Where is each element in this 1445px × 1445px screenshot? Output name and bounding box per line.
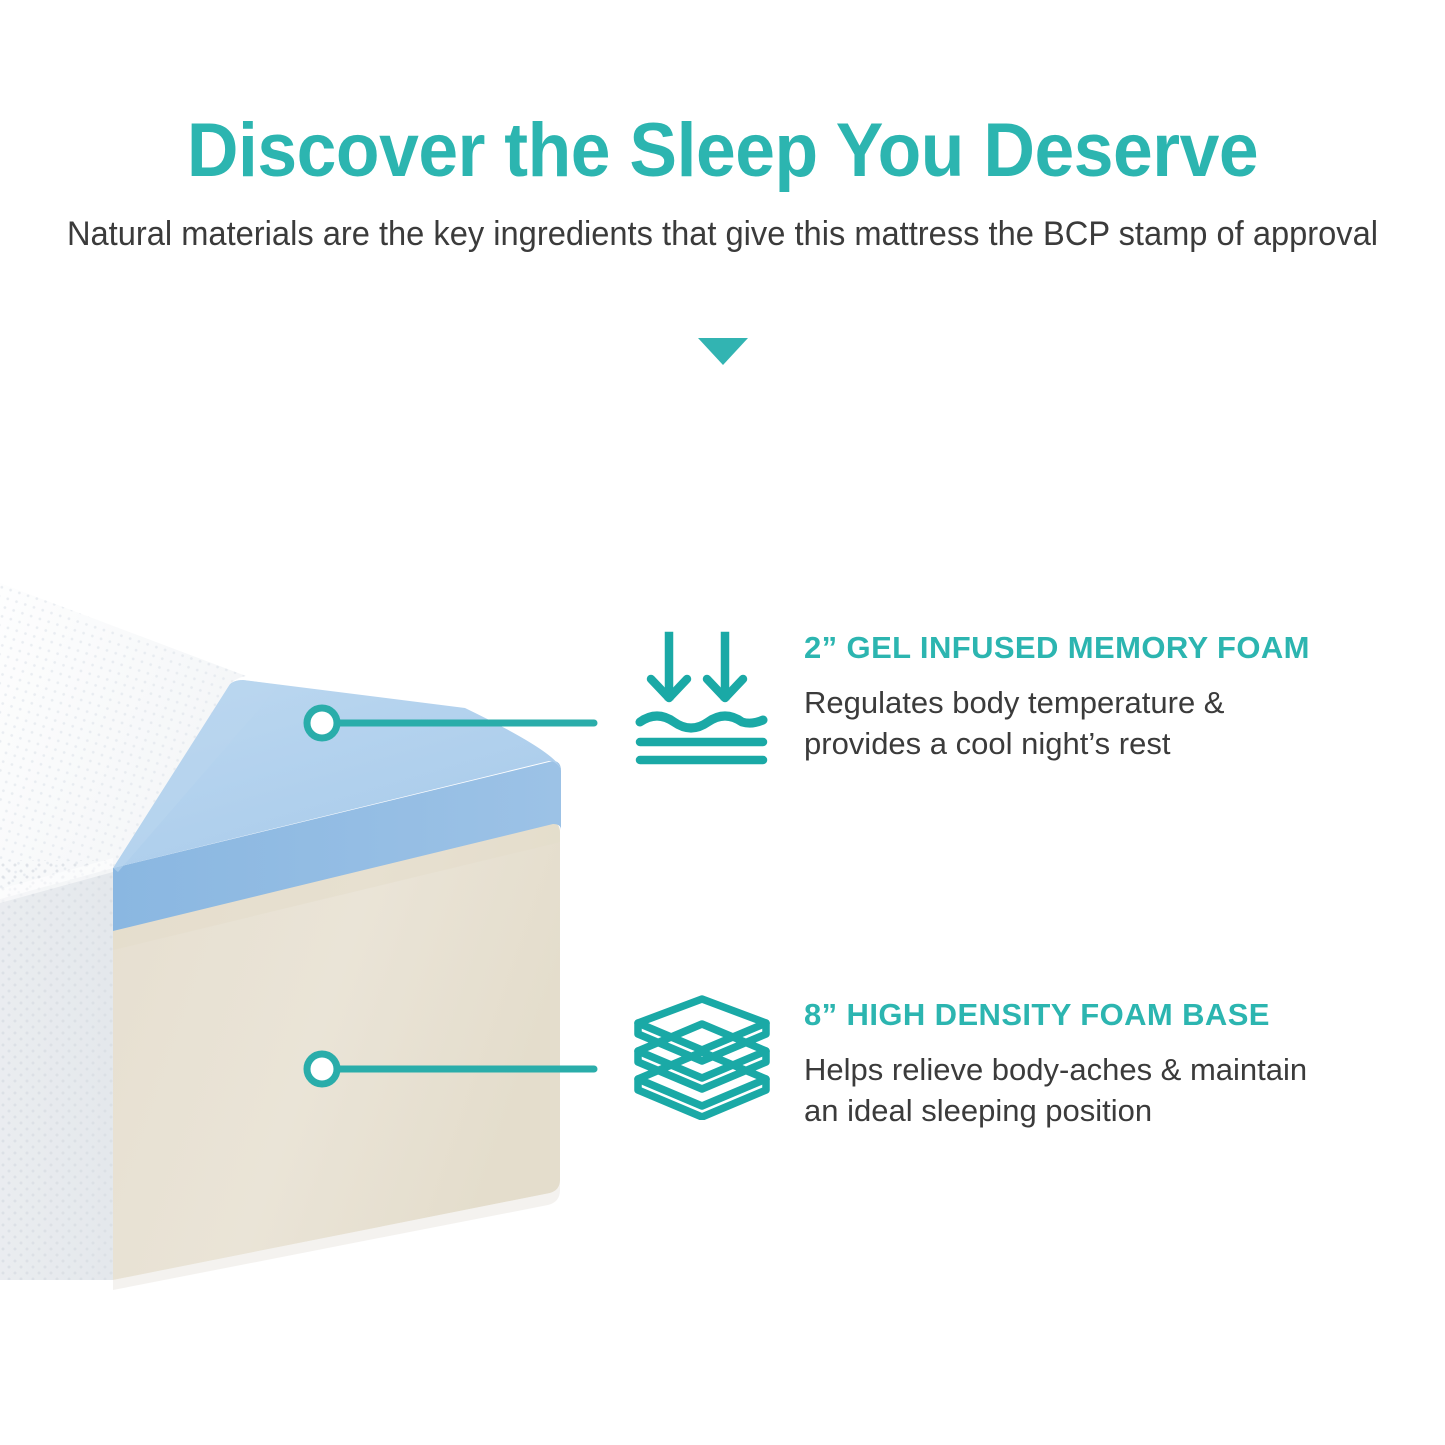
- feature-gel-title: 2” GEL INFUSED MEMORY FOAM: [804, 630, 1310, 666]
- infographic-page: Discover the Sleep You Deserve Natural m…: [0, 0, 1445, 1445]
- feature-base-text: 8” HIGH DENSITY FOAM BASE Helps relieve …: [804, 995, 1307, 1131]
- stacked-layers-icon: [632, 995, 772, 1120]
- feature-gel-text: 2” GEL INFUSED MEMORY FOAM Regulates bod…: [804, 628, 1310, 764]
- page-title: Discover the Sleep You Deserve: [43, 0, 1401, 194]
- feature-high-density-foam-base: 8” HIGH DENSITY FOAM BASE Helps relieve …: [632, 995, 1307, 1131]
- feature-gel-infused-memory-foam: 2” GEL INFUSED MEMORY FOAM Regulates bod…: [632, 628, 1310, 768]
- page-subtitle: Natural materials are the key ingredient…: [29, 194, 1416, 256]
- feature-gel-description: Regulates body temperature & provides a …: [804, 666, 1310, 764]
- feature-base-description: Helps relieve body-aches & maintain an i…: [804, 1033, 1307, 1131]
- header: Discover the Sleep You Deserve Natural m…: [0, 0, 1445, 256]
- feature-base-title: 8” HIGH DENSITY FOAM BASE: [804, 997, 1307, 1033]
- triangle-down-icon: [698, 338, 748, 365]
- callout-connector-gel: [300, 700, 600, 746]
- pressure-arrows-waves-icon: [632, 628, 772, 768]
- callout-connector-base: [300, 1046, 600, 1092]
- mattress-cutaway-illustration: [0, 490, 600, 1290]
